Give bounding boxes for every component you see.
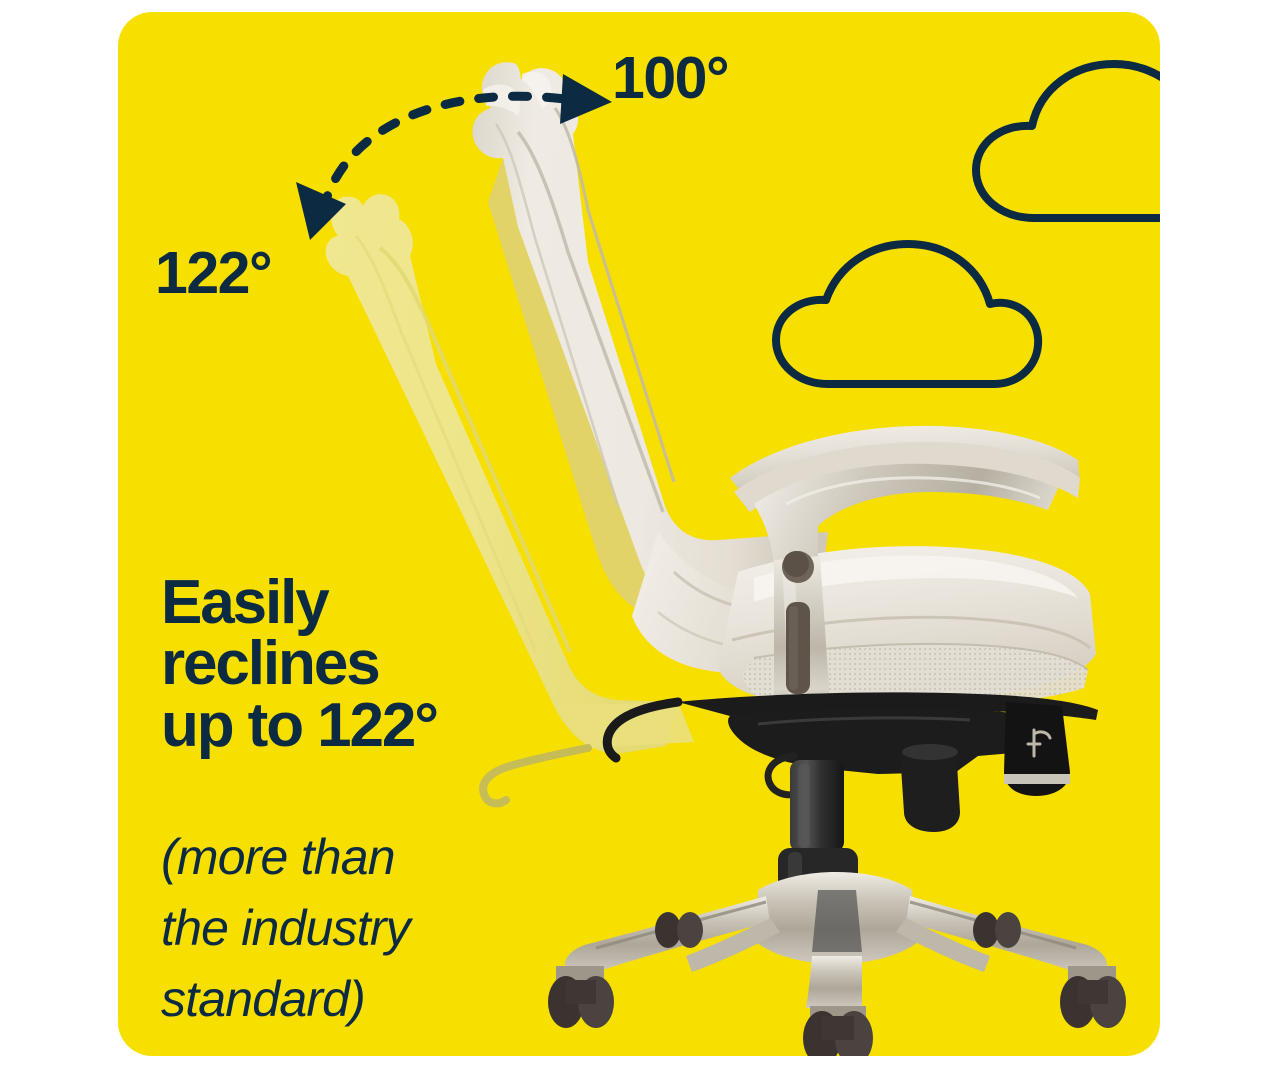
chair-caster <box>973 912 1021 948</box>
arrow-head-upright <box>560 74 612 124</box>
subheadline: (more than the industry standard) <box>161 822 581 1035</box>
chair-armrest <box>730 426 1080 728</box>
chair-base <box>548 872 1126 1056</box>
headline-line-3: up to 122° <box>161 695 631 756</box>
chair-caster <box>655 912 703 948</box>
chair-mechanism <box>607 692 1098 832</box>
chair-gas-cylinder <box>778 760 858 908</box>
cloud-outline-icon <box>924 50 1160 250</box>
subheadline-line-1: (more than <box>161 822 581 893</box>
headline-line-1: Easily <box>161 572 631 633</box>
subheadline-line-3: standard) <box>161 964 581 1035</box>
angle-label-upright: 100° <box>612 49 728 108</box>
promo-graphic: 100° 122° Easily reclines up to 122° (mo… <box>0 0 1280 1073</box>
headline: Easily reclines up to 122° <box>161 572 631 756</box>
headline-line-2: reclines <box>161 633 631 694</box>
chair-caster <box>1060 966 1126 1028</box>
arrow-head-reclined <box>296 182 346 240</box>
chair-seat <box>718 546 1096 708</box>
cloud-outline-icon <box>758 234 1058 404</box>
chair-caster <box>803 1006 873 1056</box>
angle-label-reclined: 122° <box>155 244 271 303</box>
subheadline-line-2: the industry <box>161 893 581 964</box>
